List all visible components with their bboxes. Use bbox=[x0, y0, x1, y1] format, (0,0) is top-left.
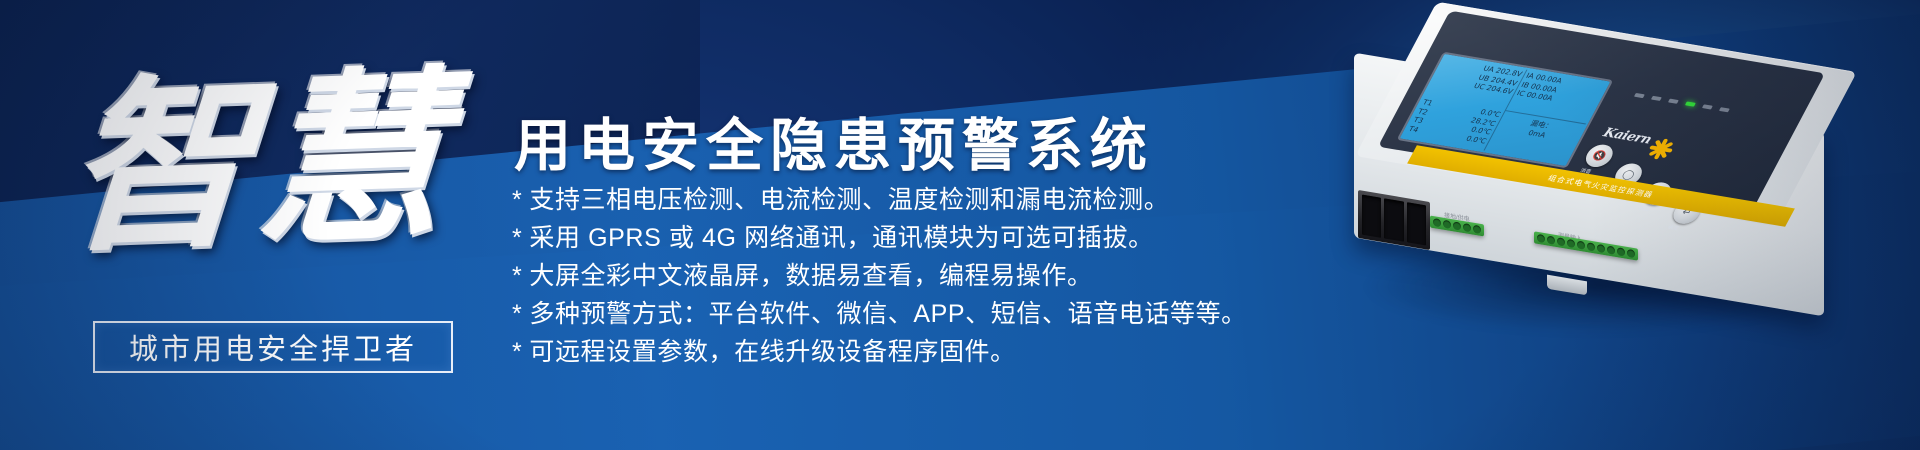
calligraphy-block: 智慧 bbox=[58, 22, 458, 302]
bullet-marker-icon: * bbox=[512, 224, 522, 252]
list-item: *采用 GPRS 或 4G 网络通讯，通讯模块为可选可插拔。 bbox=[512, 220, 1247, 256]
list-item-text: 多种预警方式：平台软件、微信、APP、短信、语音电话等等。 bbox=[529, 300, 1246, 328]
lcd-temp-4-label: T4 bbox=[1407, 124, 1421, 134]
led-mute-icon bbox=[1668, 99, 1679, 104]
calligraphy-text: 智慧 bbox=[60, 63, 456, 261]
list-item: *可远程设置参数，在线升级设备程序固件。 bbox=[512, 334, 1247, 370]
led-fault-icon bbox=[1651, 96, 1662, 101]
slogan-badge-text: 城市用电安全捍卫者 bbox=[129, 326, 417, 368]
bullet-marker-icon: * bbox=[512, 300, 522, 328]
list-item-text: 可远程设置参数，在线升级设备程序固件。 bbox=[529, 338, 1015, 366]
bullet-marker-icon: * bbox=[512, 262, 522, 290]
page-title: 用电安全隐患预警系统 bbox=[514, 100, 1154, 182]
list-item: *多种预警方式：平台软件、微信、APP、短信、语音电话等等。 bbox=[512, 296, 1247, 332]
product-device-image: UA 202.8V UB 204.4V UC 204.6V IA 00.00A … bbox=[1352, 24, 1912, 344]
list-item-text: 大屏全彩中文液晶屏，数据易查看，编程易操作。 bbox=[529, 262, 1092, 290]
lcd-temp-4-value: 0.0℃ bbox=[1464, 134, 1488, 146]
list-item: *支持三相电压检测、电流检测、温度检测和漏电流检测。 bbox=[512, 182, 1247, 218]
list-item: *大屏全彩中文液晶屏，数据易查看，编程易操作。 bbox=[512, 258, 1247, 294]
bullet-marker-icon: * bbox=[512, 338, 522, 366]
slogan-badge: 城市用电安全捍卫者 bbox=[93, 321, 453, 373]
increase-button-label: 增加 bbox=[1637, 205, 1650, 213]
led-alarm-icon bbox=[1719, 107, 1730, 112]
feature-list: *支持三相电压检测、电流检测、温度检测和漏电流检测。 *采用 GPRS 或 4G… bbox=[512, 182, 1247, 370]
led-shield-icon bbox=[1702, 104, 1713, 109]
promo-banner: 智慧 城市用电安全捍卫者 用电安全隐患预警系统 *支持三相电压检测、电流检测、温… bbox=[0, 0, 1920, 450]
list-item-text: 支持三相电压检测、电流检测、温度检测和漏电流检测。 bbox=[529, 186, 1169, 214]
led-normal-icon bbox=[1634, 93, 1645, 98]
bullet-marker-icon: * bbox=[512, 186, 522, 214]
led-run-icon bbox=[1685, 101, 1696, 106]
list-item-text: 采用 GPRS 或 4G 网络通讯，通讯模块为可选可插拔。 bbox=[529, 224, 1153, 252]
